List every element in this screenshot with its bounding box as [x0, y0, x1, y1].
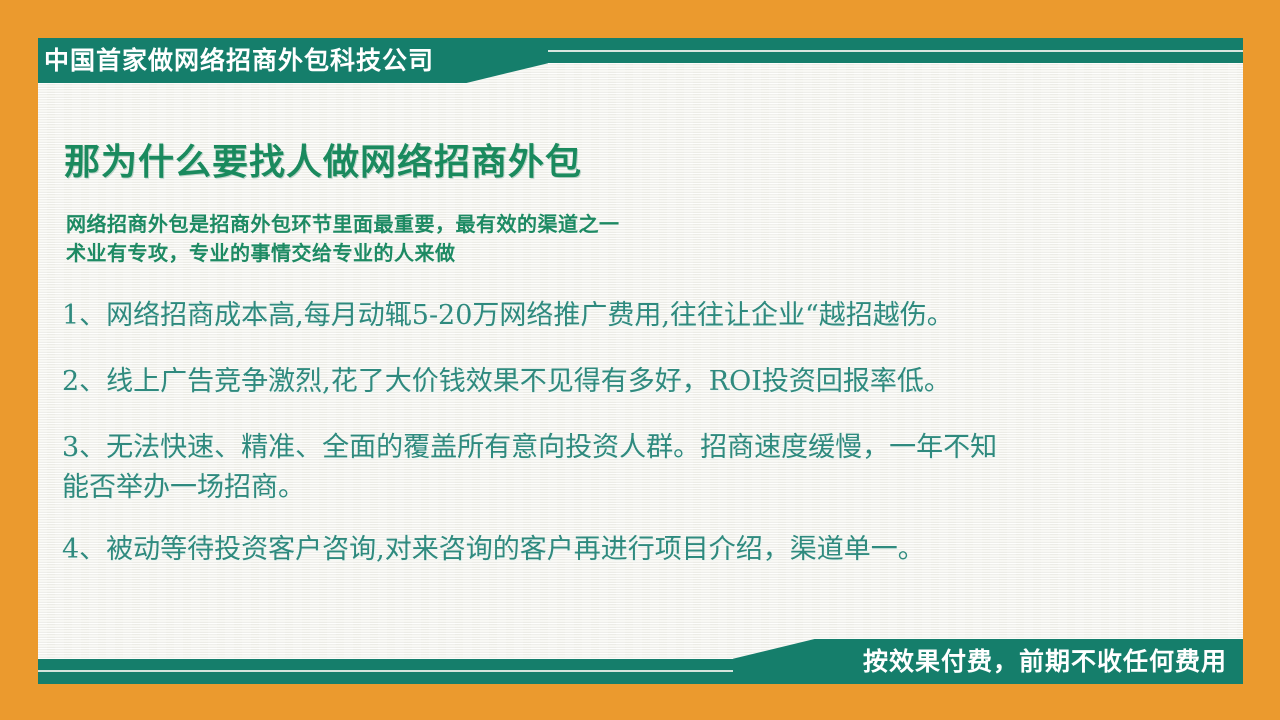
list-item-line: 能否举办一场招商。: [62, 468, 1217, 508]
reason-list: 1、网络招商成本高,每月动辄5-20万网络推广费用,往往让企业“越招越伤。 2、…: [62, 296, 1217, 596]
list-item-line: 1、网络招商成本高,每月动辄5-20万网络推广费用,往往让企业“越招越伤。: [62, 296, 1217, 336]
slide: 中国首家做网络招商外包科技公司 那为什么要找人做网络招商外包 网络招商外包是招商…: [0, 0, 1280, 720]
subtitle-block: 网络招商外包是招商外包环节里面最重要，最有效的渠道之一 术业有专攻，专业的事情交…: [66, 210, 1166, 268]
list-item-line: 4、被动等待投资客户咨询,对来咨询的客户再进行项目介绍，渠道单一。: [62, 530, 1217, 570]
list-item: 3、无法快速、精准、全面的覆盖所有意向投资人群。招商速度缓慢，一年不知 能否举办…: [62, 428, 1217, 508]
page-title: 那为什么要找人做网络招商外包: [64, 133, 582, 185]
list-item: 4、被动等待投资客户咨询,对来咨询的客户再进行项目介绍，渠道单一。: [62, 530, 1217, 570]
subtitle-line-2: 术业有专攻，专业的事情交给专业的人来做: [66, 239, 1166, 268]
subtitle-line-1: 网络招商外包是招商外包环节里面最重要，最有效的渠道之一: [66, 210, 1166, 239]
list-item: 1、网络招商成本高,每月动辄5-20万网络推广费用,往往让企业“越招越伤。: [62, 296, 1217, 336]
content-wrapper: 那为什么要找人做网络招商外包 网络招商外包是招商外包环节里面最重要，最有效的渠道…: [38, 38, 1243, 684]
footer-tagline: 按效果付费，前期不收任何费用: [863, 639, 1227, 684]
list-item-line: 2、线上广告竞争激烈,花了大价钱效果不见得有多好，ROI投资回报率低。: [62, 362, 1217, 402]
list-item-line: 3、无法快速、精准、全面的覆盖所有意向投资人群。招商速度缓慢，一年不知: [62, 428, 1217, 468]
list-item: 2、线上广告竞争激烈,花了大价钱效果不见得有多好，ROI投资回报率低。: [62, 362, 1217, 402]
content-area: 那为什么要找人做网络招商外包 网络招商外包是招商外包环节里面最重要，最有效的渠道…: [38, 38, 1243, 684]
slide-footer: 按效果付费，前期不收任何费用: [38, 622, 1243, 684]
